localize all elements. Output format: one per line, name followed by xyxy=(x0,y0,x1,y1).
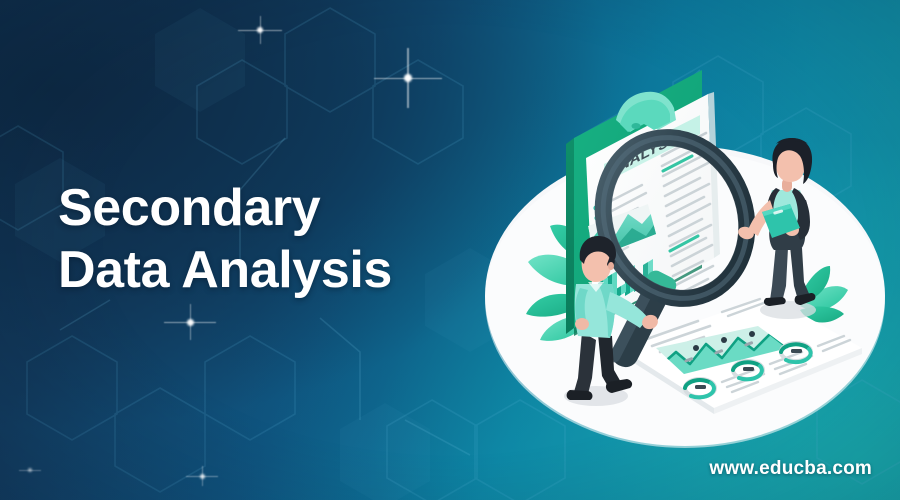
page-title: Secondary Data Analysis xyxy=(58,178,528,302)
site-url[interactable]: www.educba.com xyxy=(709,458,872,480)
banner: Secondary Data Analysis xyxy=(0,0,900,500)
data-analysis-illustration: ANALYSIS xyxy=(470,48,900,452)
page-title-line-2: Data Analysis xyxy=(58,240,528,302)
page-title-line-1: Secondary xyxy=(58,178,528,240)
